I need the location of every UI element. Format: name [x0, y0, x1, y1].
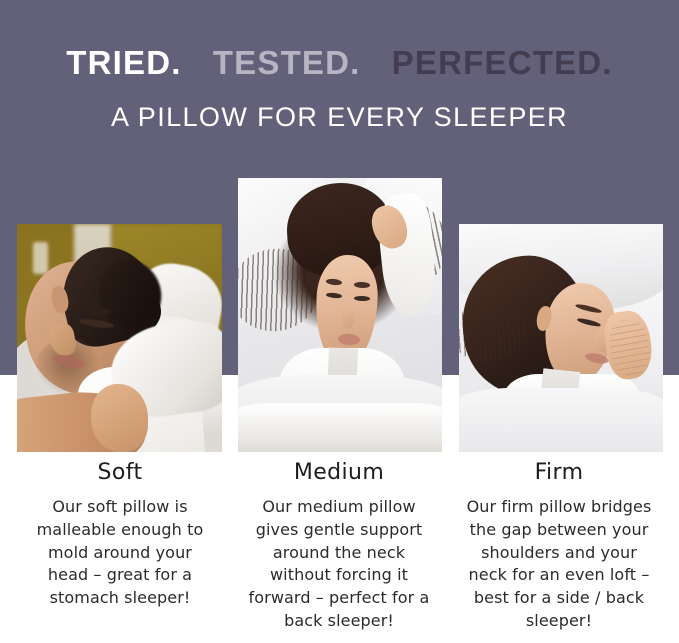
column-soft: Soft Our soft pillow is malleable enough…: [7, 452, 233, 610]
photo-soft-art: [17, 224, 222, 452]
column-firm-title: Firm: [446, 452, 672, 485]
headline-word-perfected: PERFECTED.: [392, 44, 613, 81]
photo-soft: [17, 224, 222, 452]
headline-word-tried: TRIED.: [66, 44, 181, 81]
headline-space-1: [192, 44, 202, 81]
promo-graphic: TRIED. TESTED. PERFECTED. A PILLOW FOR E…: [0, 0, 679, 643]
photo-firm: [459, 224, 663, 452]
photo-medium: [238, 178, 442, 452]
column-soft-description: Our soft pillow is malleable enough to m…: [7, 485, 233, 610]
photo-medium-nose: [342, 304, 354, 329]
photo-firm-art: [459, 224, 663, 452]
photo-medium-eye-right: [354, 296, 370, 301]
photo-soft-hand: [91, 384, 148, 452]
headline: TRIED. TESTED. PERFECTED.: [0, 46, 679, 79]
feature-columns: Soft Our soft pillow is malleable enough…: [0, 452, 679, 643]
photo-medium-duvet: [238, 403, 442, 452]
column-firm-description: Our firm pillow bridges the gap between …: [446, 485, 672, 632]
photo-medium-art: [238, 178, 442, 452]
headline-word-tested: TESTED.: [213, 44, 361, 81]
headline-space-2: [371, 44, 381, 81]
photo-soft-lamp: [33, 242, 47, 274]
photo-firm-sheet-bottom: [459, 388, 663, 452]
column-medium-title: Medium: [226, 452, 452, 485]
column-medium-description: Our medium pillow gives gentle support a…: [226, 485, 452, 632]
sub-headline: A PILLOW FOR EVERY SLEEPER: [0, 104, 679, 131]
column-firm: Firm Our firm pillow bridges the gap bet…: [446, 452, 672, 633]
column-medium: Medium Our medium pillow gives gentle su…: [226, 452, 452, 633]
column-soft-title: Soft: [7, 452, 233, 485]
